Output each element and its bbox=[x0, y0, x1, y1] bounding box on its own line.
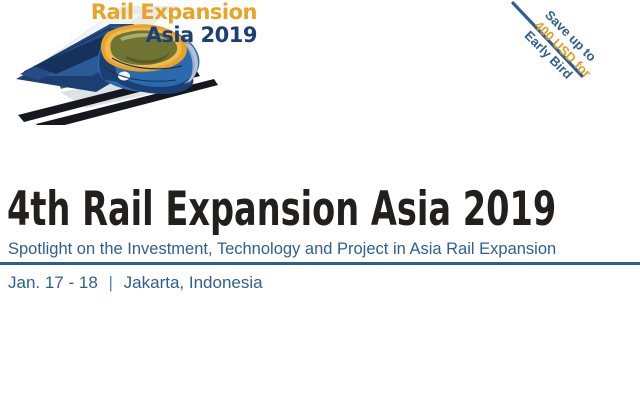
page-subtitle: Spotlight on the Investment, Technology … bbox=[8, 239, 556, 259]
event-date: Jan. 17 - 18 bbox=[8, 273, 98, 292]
event-separator: | bbox=[103, 273, 119, 292]
event-venue: Jakarta, Indonesia bbox=[124, 273, 263, 292]
early-bird-ribbon: Save up to 400 USD for Early Bird bbox=[500, 0, 640, 90]
bullet-train-icon bbox=[0, 0, 260, 125]
divider bbox=[0, 262, 640, 265]
page-title: 4th Rail Expansion Asia 2019 bbox=[7, 186, 457, 234]
event-date-venue: Jan. 17 - 18 | Jakarta, Indonesia bbox=[8, 272, 263, 294]
event-banner: Rail Expansion Asia 2019 Save up to 400 … bbox=[0, 0, 640, 400]
event-logo[interactable]: Rail Expansion Asia 2019 bbox=[0, 0, 260, 125]
